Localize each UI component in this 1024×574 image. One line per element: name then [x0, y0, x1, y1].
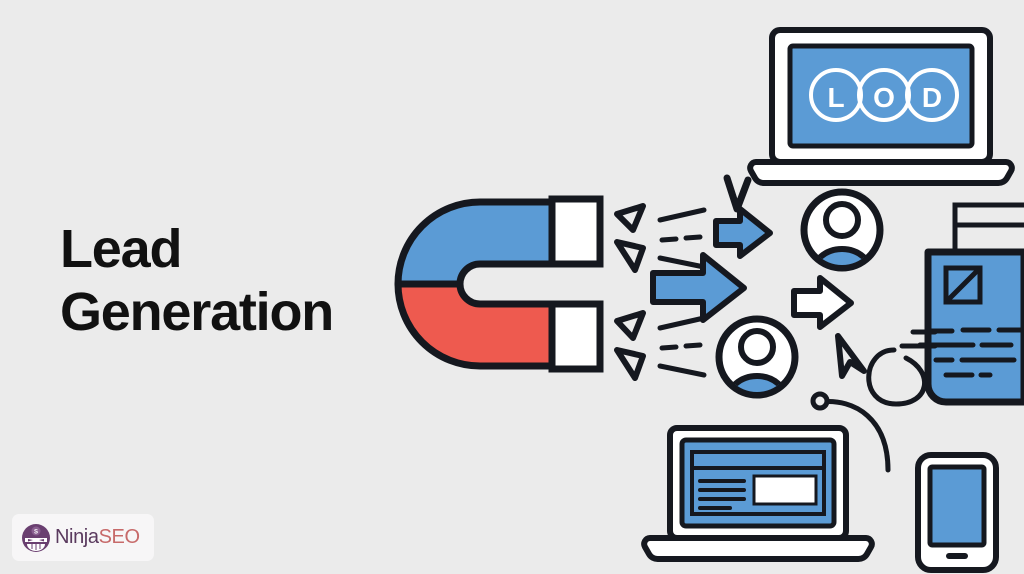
avatar-top-head [826, 204, 858, 236]
blue-content-card [902, 252, 1024, 402]
lead-generation-illustration: L O D [0, 0, 1024, 574]
logo-text-seo: SEO [99, 526, 140, 548]
attraction-dashes-bottom [660, 318, 704, 375]
laptop-bottom [644, 428, 872, 559]
magnet-tip-bottom [552, 304, 600, 369]
logo-wordmark: NinjaSEO [55, 526, 140, 549]
connector-curve-2 [869, 350, 925, 404]
ninjaseo-logo[interactable]: S NinjaSEO [12, 514, 154, 561]
white-arrow [794, 278, 851, 327]
user-avatar-bottom [719, 319, 795, 402]
avatar-bottom-head [741, 331, 773, 363]
attraction-triangle-1 [617, 206, 643, 230]
attraction-triangle-4 [617, 350, 643, 378]
connector-node-dot [813, 394, 827, 408]
screen-letter-l: L [827, 82, 844, 113]
attraction-triangle-2 [617, 242, 643, 270]
phone-home-button [946, 553, 968, 559]
laptop-bottom-base [644, 538, 872, 559]
user-avatar-top [804, 192, 880, 275]
screen-letter-o: O [873, 82, 895, 113]
magnet-south-pole [398, 284, 555, 366]
laptop-top-base [750, 162, 1012, 183]
phone-screen [930, 467, 984, 545]
mouse-cursor-arrow [838, 336, 864, 376]
ninja-face-icon: S [21, 523, 51, 553]
logo-text-ninja: Ninja [55, 526, 99, 548]
blue-arrow-small [716, 209, 770, 256]
magnet-north-pole [398, 202, 555, 284]
attraction-dashes-top [660, 210, 704, 267]
attraction-triangle-3 [617, 313, 643, 338]
logo-badge-letter: S [34, 529, 38, 535]
magnet-tip-top [552, 199, 600, 264]
laptop-top: L O D [750, 30, 1012, 183]
smartphone [918, 455, 996, 570]
illustration-canvas: Lead Generation L O D [0, 0, 1024, 574]
check-tick-mark [727, 178, 748, 209]
horseshoe-magnet [398, 199, 600, 369]
browser-cta-box [754, 476, 816, 504]
screen-letter-d: D [922, 82, 942, 113]
